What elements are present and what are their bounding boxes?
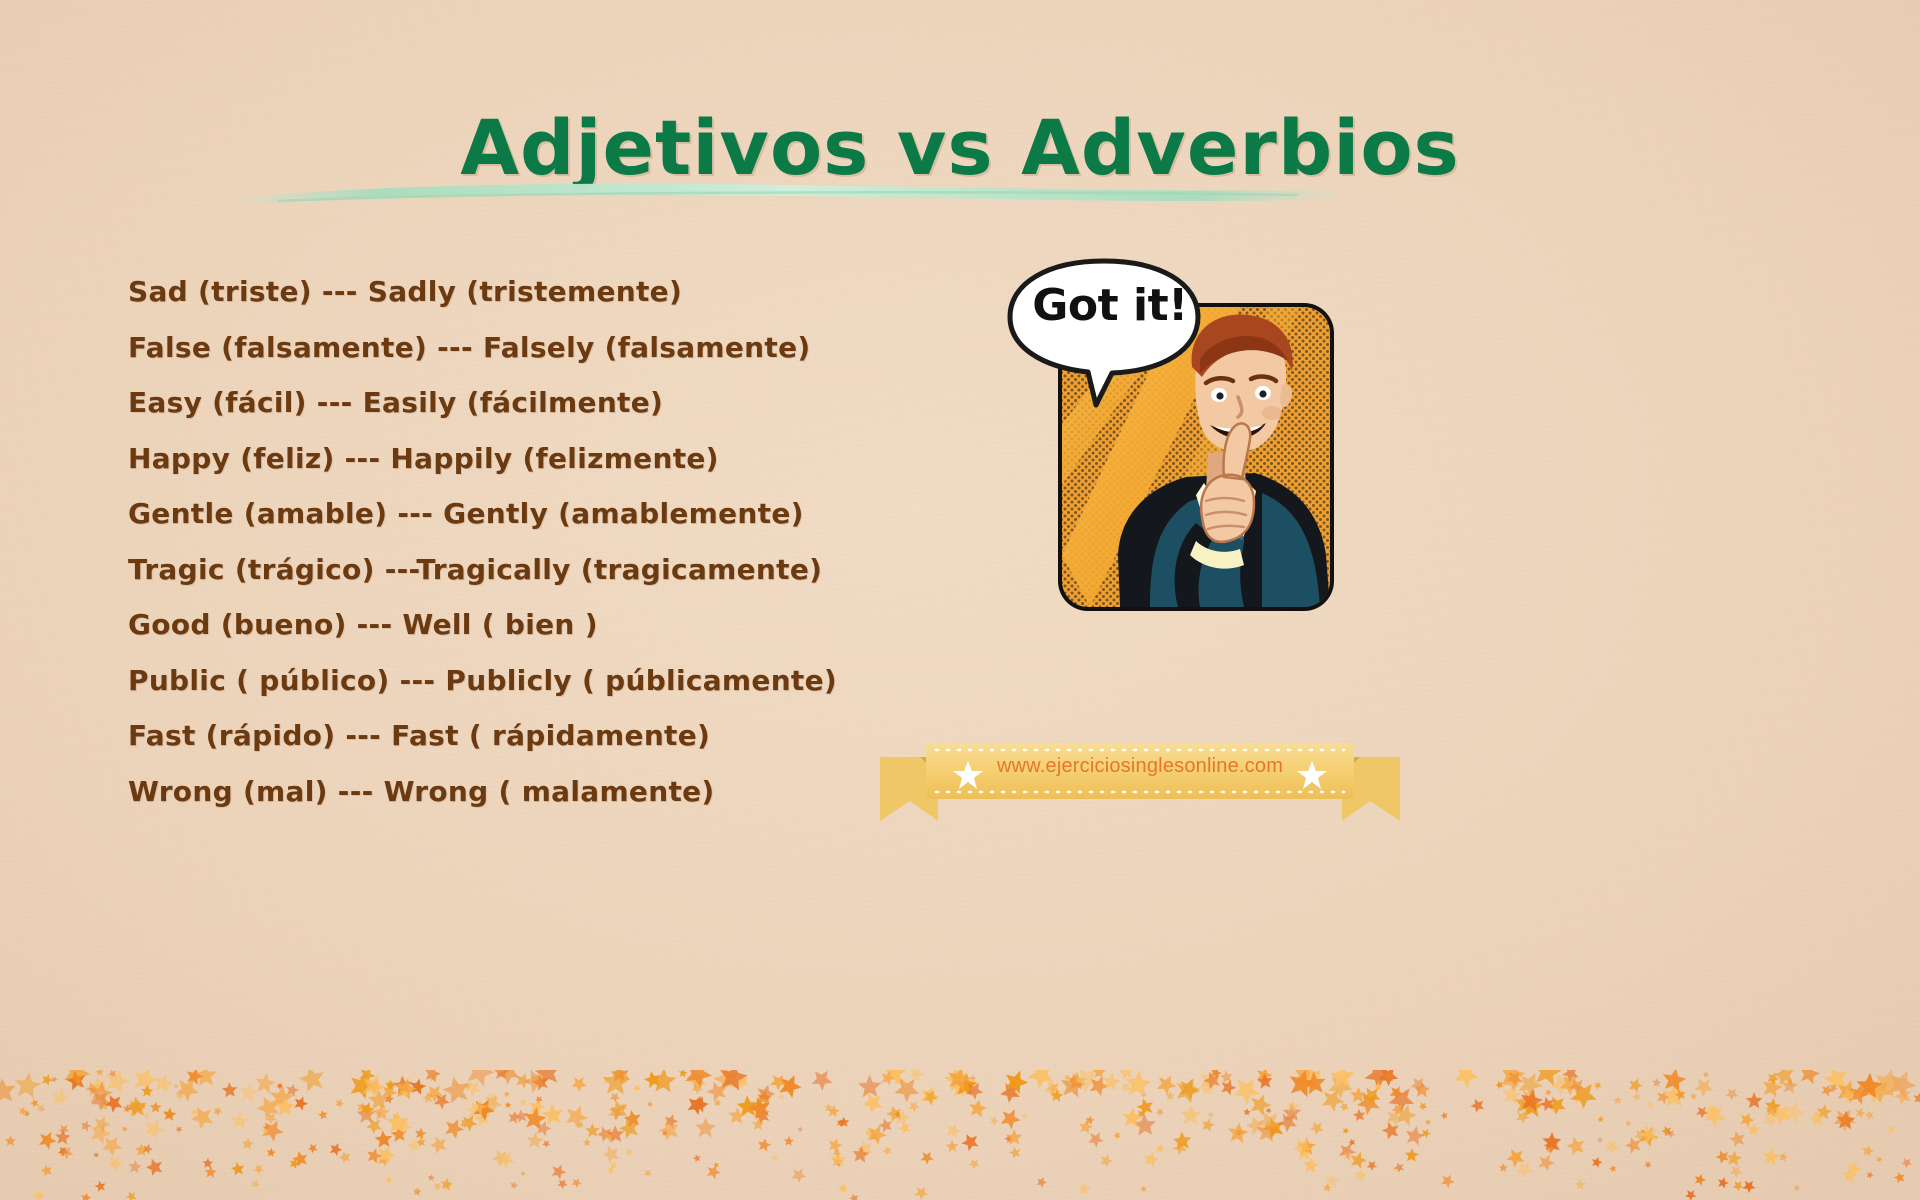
list-item: Sad (triste) --- Sadly (tristemente) — [128, 278, 988, 306]
list-item: Public ( público) --- Publicly ( pública… — [128, 667, 988, 695]
page-title: Adjetivos vs Adverbios — [0, 108, 1920, 188]
list-item: Wrong (mal) --- Wrong ( malamente) — [128, 778, 988, 806]
list-item: Gentle (amable) --- Gently (amablemente) — [128, 500, 988, 528]
adjective-adverb-list: Sad (triste) --- Sadly (tristemente) Fal… — [128, 278, 988, 833]
list-item: Happy (feliz) --- Happily (felizmente) — [128, 445, 988, 473]
page-title-container: Adjetivos vs Adverbios — [0, 108, 1920, 188]
list-item: False (falsamente) --- Falsely (falsamen… — [128, 334, 988, 362]
list-item: Easy (fácil) --- Easily (fácilmente) — [128, 389, 988, 417]
list-item: Good (bueno) --- Well ( bien ) — [128, 611, 988, 639]
website-ribbon-banner — [880, 735, 1400, 830]
website-url[interactable]: www.ejerciciosinglesonline.com — [880, 755, 1400, 778]
speech-bubble-text: Got it! — [1010, 280, 1210, 331]
list-item: Fast (rápido) --- Fast ( rápidamente) — [128, 722, 988, 750]
list-item: Tragic (trágico) ---Tragically (tragicam… — [128, 556, 988, 584]
star-confetti-border — [0, 1070, 1920, 1200]
